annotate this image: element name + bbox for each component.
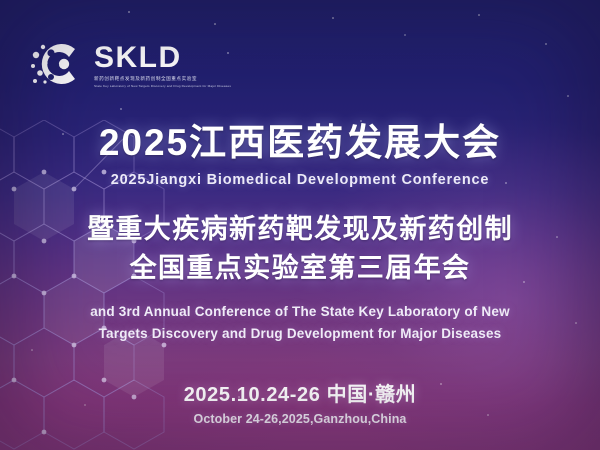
subtitle-en-block: and 3rd Annual Conference of The State K… <box>0 301 600 344</box>
skld-logo: SKLD 新药创新靶点发现及新药创制全国重点实验室 State Key Labo… <box>26 33 243 95</box>
molecular-c-emblem-icon <box>26 33 88 95</box>
main-title-cn: 2025江西医药发展大会 <box>0 122 600 163</box>
subtitle-en-line1: and 3rd Annual Conference of The State K… <box>0 301 600 323</box>
event-date-en: October 24-26,2025,Ganzhou,China <box>0 412 600 426</box>
poster-content: 2025江西医药发展大会 2025Jiangxi Biomedical Deve… <box>0 122 600 426</box>
conference-poster: SKLD 新药创新靶点发现及新药创制全国重点实验室 State Key Labo… <box>0 0 600 450</box>
event-date-cn: 2025.10.24-26 中国·赣州 <box>0 378 600 407</box>
subtitle-en-line2: Targets Discovery and Drug Development f… <box>0 323 600 345</box>
subtitle-cn-block: 暨重大疾病新药靶发现及新药创制 全国重点实验室第三届年会 <box>0 210 600 287</box>
subtitle-cn-line1: 暨重大疾病新药靶发现及新药创制 <box>0 210 600 248</box>
logo-english-name: State Key Laboratory of New Targets Disc… <box>94 84 231 89</box>
subtitle-cn-line2: 全国重点实验室第三届年会 <box>0 249 600 287</box>
logo-wordmark: SKLD <box>94 43 243 73</box>
main-title-en: 2025Jiangxi Biomedical Development Confe… <box>0 172 600 188</box>
logo-chinese-name: 新药创新靶点发现及新药创制全国重点实验室 <box>94 76 231 82</box>
